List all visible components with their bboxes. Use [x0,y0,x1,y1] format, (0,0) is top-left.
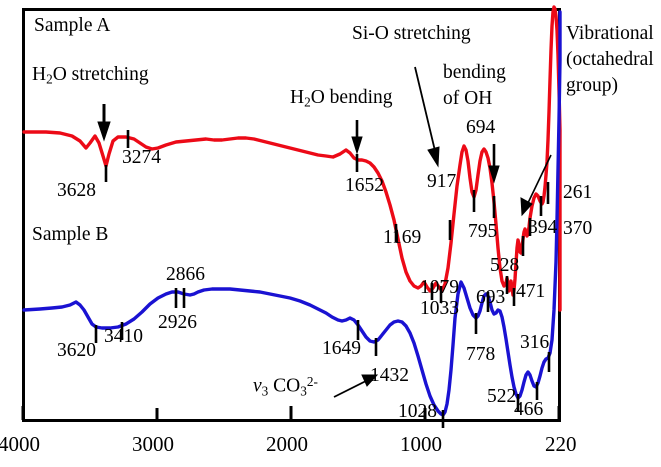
peak-label-2866: 2866 [166,265,205,285]
si-o-stretching-annotation: Si-O stretching [352,24,471,44]
peak-label-370: 370 [563,219,592,239]
h2o-bending-rest: O bending [311,87,393,108]
peak-label-1432: 1432 [370,366,409,386]
peak-label-1649: 1649 [322,339,361,359]
co3-charge: 2- [307,374,318,389]
xtick-label-1000: 1000 [400,432,442,457]
nu-subscript-3: 3 [262,383,269,398]
h2o-stretching-rest: O stretching [53,64,149,85]
peak-label-466: 466 [514,400,543,420]
peak-label-394: 394 [528,218,557,238]
peak-label-1169: 1169 [383,228,421,248]
co3-text: CO [273,376,300,397]
peak-label-1028: 1028 [398,402,437,422]
vibrational-line2: (octahedral [566,50,654,70]
peak-label-2926: 2926 [158,313,197,333]
h2o-stretching-annotation: H2O stretching [32,65,149,86]
peak-label-522: 522 [487,387,516,407]
si-o-stretching-arrow [415,67,439,166]
peak-label-917: 917 [427,172,456,192]
ftir-spectrum-figure: Sample A Sample B H2O stretching H2O ben… [0,0,661,467]
sample-a-trace [24,7,560,310]
vibrational-line3: group) [566,76,618,96]
peak-label-3628: 3628 [57,181,96,201]
nu-symbol: ν [253,376,262,397]
peak-label-3274: 3274 [122,148,161,168]
co3-subscript-3: 3 [300,383,307,398]
peak-label-1079: 1079 [420,278,459,298]
h2o-bending-h: H [290,87,304,108]
nu3-co3-annotation: ν3 CO32- [253,375,318,398]
vibrational-line1: Vibrational [566,24,654,44]
xtick-label-2000: 2000 [266,432,308,457]
xtick-label-3000: 3000 [132,432,174,457]
xtick-label-220: 220 [545,432,577,457]
peak-label-694: 694 [466,118,495,138]
h2o-bending-2: 2 [304,95,311,110]
peak-label-3410: 3410 [104,327,143,347]
x-axis-ticks [23,406,559,420]
peak-label-1033: 1033 [420,299,459,319]
peak-label-316: 316 [520,333,549,353]
peak-label-471: 471 [516,282,545,302]
h2o-bending-arrow [352,120,362,153]
xtick-label-4000: 4000 [0,432,40,457]
sample-b-label: Sample B [32,225,108,245]
peak-label-261: 261 [563,183,592,203]
peak-label-528: 528 [490,256,519,276]
h2o-stretching-2: 2 [46,72,53,87]
h2o-bending-annotation: H2O bending [290,88,393,109]
peak-label-778: 778 [466,345,495,365]
bending-of-oh-line1: bending [443,63,506,83]
h2o-stretching-h: H [32,64,46,85]
peak-label-3620: 3620 [57,341,96,361]
bending-of-oh-line2: of OH [443,89,492,109]
peak-label-795: 795 [468,222,497,242]
h2o-stretching-arrow [98,104,110,140]
peak-label-1652: 1652 [345,176,384,196]
peak-label-693: 693 [476,288,505,308]
sample-a-label: Sample A [34,16,110,36]
